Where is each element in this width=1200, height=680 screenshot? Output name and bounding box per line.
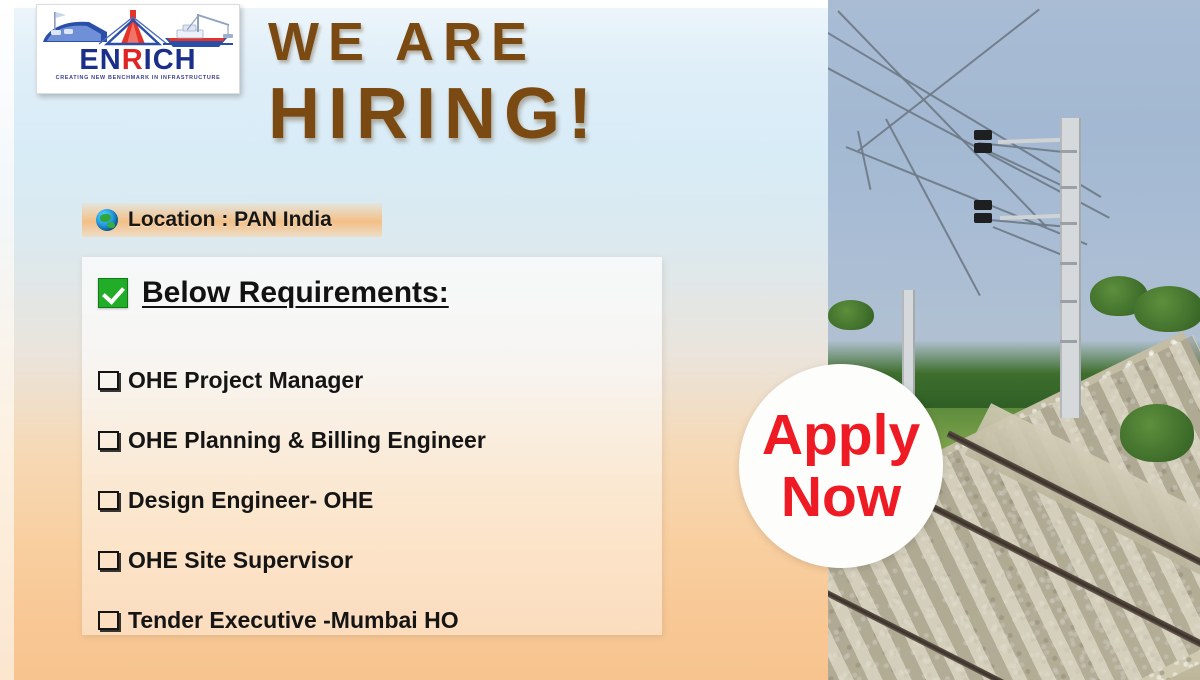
logo-wordmark-accent: R: [122, 44, 144, 76]
background-left-edge: [0, 0, 14, 680]
insulator: [974, 143, 992, 153]
requirements-heading: Below Requirements:: [98, 276, 449, 310]
job-title: OHE Site Supervisor: [128, 547, 353, 574]
mast-rung: [1060, 300, 1077, 303]
location-band: Location : PAN India: [82, 203, 382, 237]
headline-line-2: HIRING!: [268, 74, 788, 154]
list-item: Tender Executive -Mumbai HO: [98, 590, 638, 650]
list-item: OHE Site Supervisor: [98, 530, 638, 590]
photo-shrub: [828, 300, 874, 330]
list-item: OHE Planning & Billing Engineer: [98, 410, 638, 470]
mast-rung: [1060, 340, 1077, 343]
headline-line-1: WE ARE: [268, 12, 788, 72]
mast-rung: [1060, 186, 1077, 189]
job-title: Design Engineer- OHE: [128, 487, 373, 514]
empty-checkbox-icon: [98, 551, 119, 570]
apply-now-line-2: Now: [781, 466, 901, 528]
railway-photo: [828, 0, 1200, 680]
mast-rung: [1060, 222, 1077, 225]
requirements-title: Below Requirements:: [142, 276, 449, 310]
empty-checkbox-icon: [98, 611, 119, 630]
job-title: Tender Executive -Mumbai HO: [128, 607, 459, 634]
logo-wordmark-prefix: EN: [79, 44, 121, 76]
logo-wordmark: ENRICH: [37, 45, 239, 75]
photo-shrub: [1134, 286, 1200, 332]
logo-tagline: CREATING NEW BENCHMARK IN INFRASTRUCTURE: [37, 75, 239, 81]
insulator: [974, 130, 992, 140]
logo-wordmark-suffix: ICH: [144, 44, 197, 76]
insulator: [974, 213, 992, 223]
job-title: OHE Project Manager: [128, 367, 363, 394]
hiring-poster: ENRICH CREATING NEW BENCHMARK IN INFRAST…: [0, 0, 1200, 680]
mast-rung: [1060, 262, 1077, 265]
location-text: Location : PAN India: [128, 208, 332, 232]
photo-shrub: [1120, 404, 1194, 462]
job-list: OHE Project Manager OHE Planning & Billi…: [98, 350, 638, 650]
headline-block: WE ARE HIRING!: [268, 12, 788, 154]
list-item: OHE Project Manager: [98, 350, 638, 410]
ohe-mast: [1060, 118, 1081, 418]
list-item: Design Engineer- OHE: [98, 470, 638, 530]
job-title: OHE Planning & Billing Engineer: [128, 427, 486, 454]
company-logo: ENRICH CREATING NEW BENCHMARK IN INFRAST…: [36, 4, 240, 94]
empty-checkbox-icon: [98, 371, 119, 390]
empty-checkbox-icon: [98, 431, 119, 450]
empty-checkbox-icon: [98, 491, 119, 510]
green-check-icon: [98, 278, 128, 308]
mast-rung: [1060, 150, 1077, 153]
insulator: [974, 200, 992, 210]
globe-icon: [96, 209, 118, 231]
apply-now-button[interactable]: Apply Now: [739, 364, 943, 568]
apply-now-line-1: Apply: [762, 404, 920, 466]
